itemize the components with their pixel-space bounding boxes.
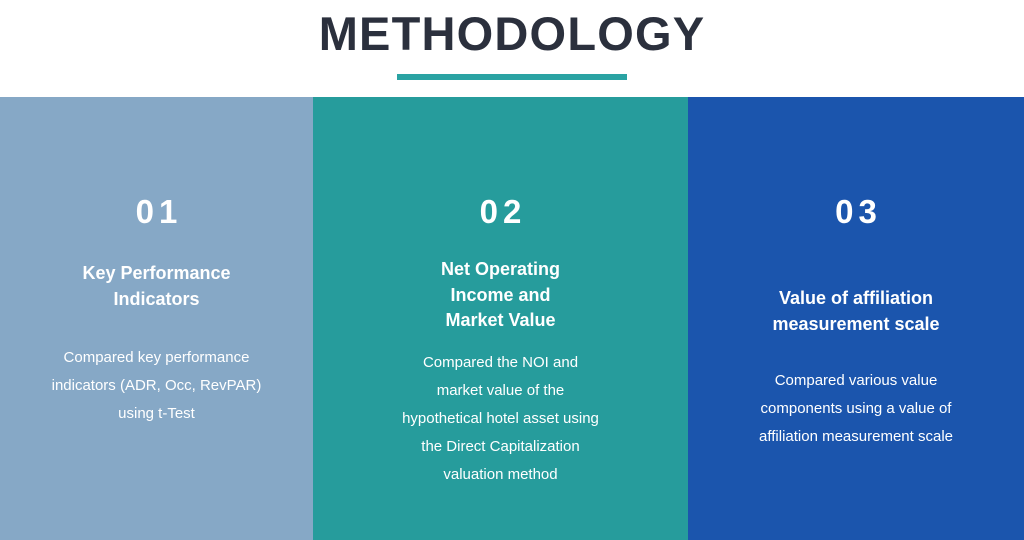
column-heading-03: Value of affiliation measurement scale — [711, 286, 1001, 337]
methodology-column-03: 03 Value of affiliation measurement scal… — [688, 97, 1024, 540]
methodology-column-01: 01 Key Performance Indicators Compared k… — [0, 97, 313, 540]
column-body-01: Compared key performance indicators (ADR… — [32, 344, 282, 428]
page-title: METHODOLOGY — [319, 0, 706, 62]
methodology-column-02: 02 Net Operating Income and Market Value… — [313, 97, 688, 540]
column-number-01: 01 — [131, 195, 183, 228]
column-body-03: Compared various value components using … — [711, 367, 1001, 451]
methodology-columns: 01 Key Performance Indicators Compared k… — [0, 97, 1024, 540]
column-number-03: 03 — [830, 195, 882, 228]
slide-header: METHODOLOGY — [0, 0, 1024, 97]
column-number-02: 02 — [475, 195, 527, 228]
column-heading-02: Net Operating Income and Market Value — [371, 257, 631, 334]
column-heading-01: Key Performance Indicators — [32, 261, 282, 312]
title-underline-rule — [397, 74, 627, 80]
column-body-02: Compared the NOI and market value of the… — [371, 349, 631, 489]
methodology-slide: METHODOLOGY 01 Key Performance Indicator… — [0, 0, 1024, 540]
